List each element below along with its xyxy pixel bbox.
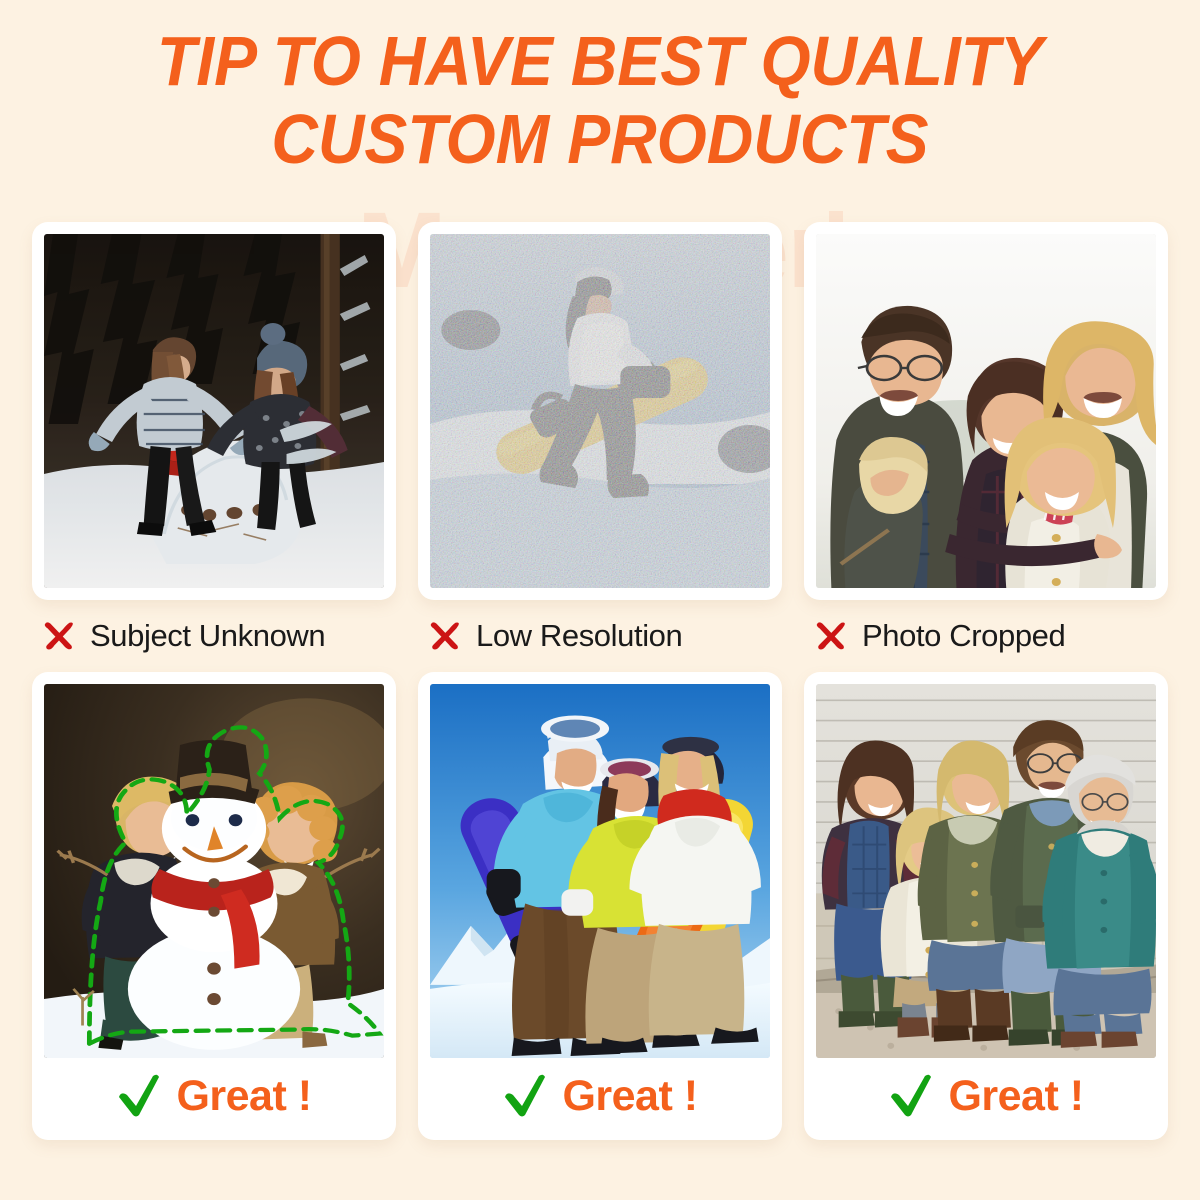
green-check-icon — [502, 1073, 548, 1119]
green-check-icon — [116, 1073, 162, 1119]
bad-label-1: Subject Unknown — [32, 600, 396, 672]
photo-card-low-resolution — [418, 222, 782, 600]
bad-example-2: Low Resolution — [418, 222, 782, 672]
photo-family-portrait-cropped-at-edges — [816, 234, 1156, 588]
photo-three-snowboarders-on-mountain — [430, 684, 770, 1058]
bad-example-3: Photo Cropped — [804, 222, 1168, 672]
photo-pixelated-snowboarder-carrying-yellow-board — [430, 234, 770, 588]
good-label-text-3: Great ! — [948, 1072, 1083, 1121]
bad-label-text-2: Low Resolution — [476, 618, 682, 654]
green-check-icon — [888, 1073, 934, 1119]
photo-card-subject-unknown — [32, 222, 396, 600]
good-label-2: Great ! — [430, 1058, 770, 1134]
red-x-icon — [426, 617, 464, 655]
title-line-2: CUSTOM PRODUCTS — [48, 100, 1152, 178]
photo-two-women-building-snowman-in-dark-forest — [44, 234, 384, 588]
bad-examples-row: Subject Unknown — [32, 222, 1168, 672]
title-line-1: TIP TO HAVE BEST QUALITY — [48, 22, 1152, 100]
bad-label-2: Low Resolution — [418, 600, 782, 672]
bad-label-3: Photo Cropped — [804, 600, 1168, 672]
photo-card-great-2: Great ! — [418, 672, 782, 1140]
bad-example-1: Subject Unknown — [32, 222, 396, 672]
good-label-1: Great ! — [44, 1058, 384, 1134]
page-title: TIP TO HAVE BEST QUALITY CUSTOM PRODUCTS — [0, 22, 1200, 178]
photo-family-of-five-against-barn-wall — [816, 684, 1156, 1058]
red-x-icon — [40, 617, 78, 655]
bad-label-text-1: Subject Unknown — [90, 618, 325, 654]
photo-card-photo-cropped — [804, 222, 1168, 600]
good-label-3: Great ! — [816, 1058, 1156, 1134]
photo-card-great-1: Great ! — [32, 672, 396, 1140]
good-examples-row: Great ! — [32, 672, 1168, 1140]
bad-label-text-3: Photo Cropped — [862, 618, 1065, 654]
good-label-text-1: Great ! — [176, 1072, 311, 1121]
photo-card-great-3: Great ! — [804, 672, 1168, 1140]
red-x-icon — [812, 617, 850, 655]
photo-two-women-with-snowman-outlined-green — [44, 684, 384, 1058]
good-label-text-2: Great ! — [562, 1072, 697, 1121]
